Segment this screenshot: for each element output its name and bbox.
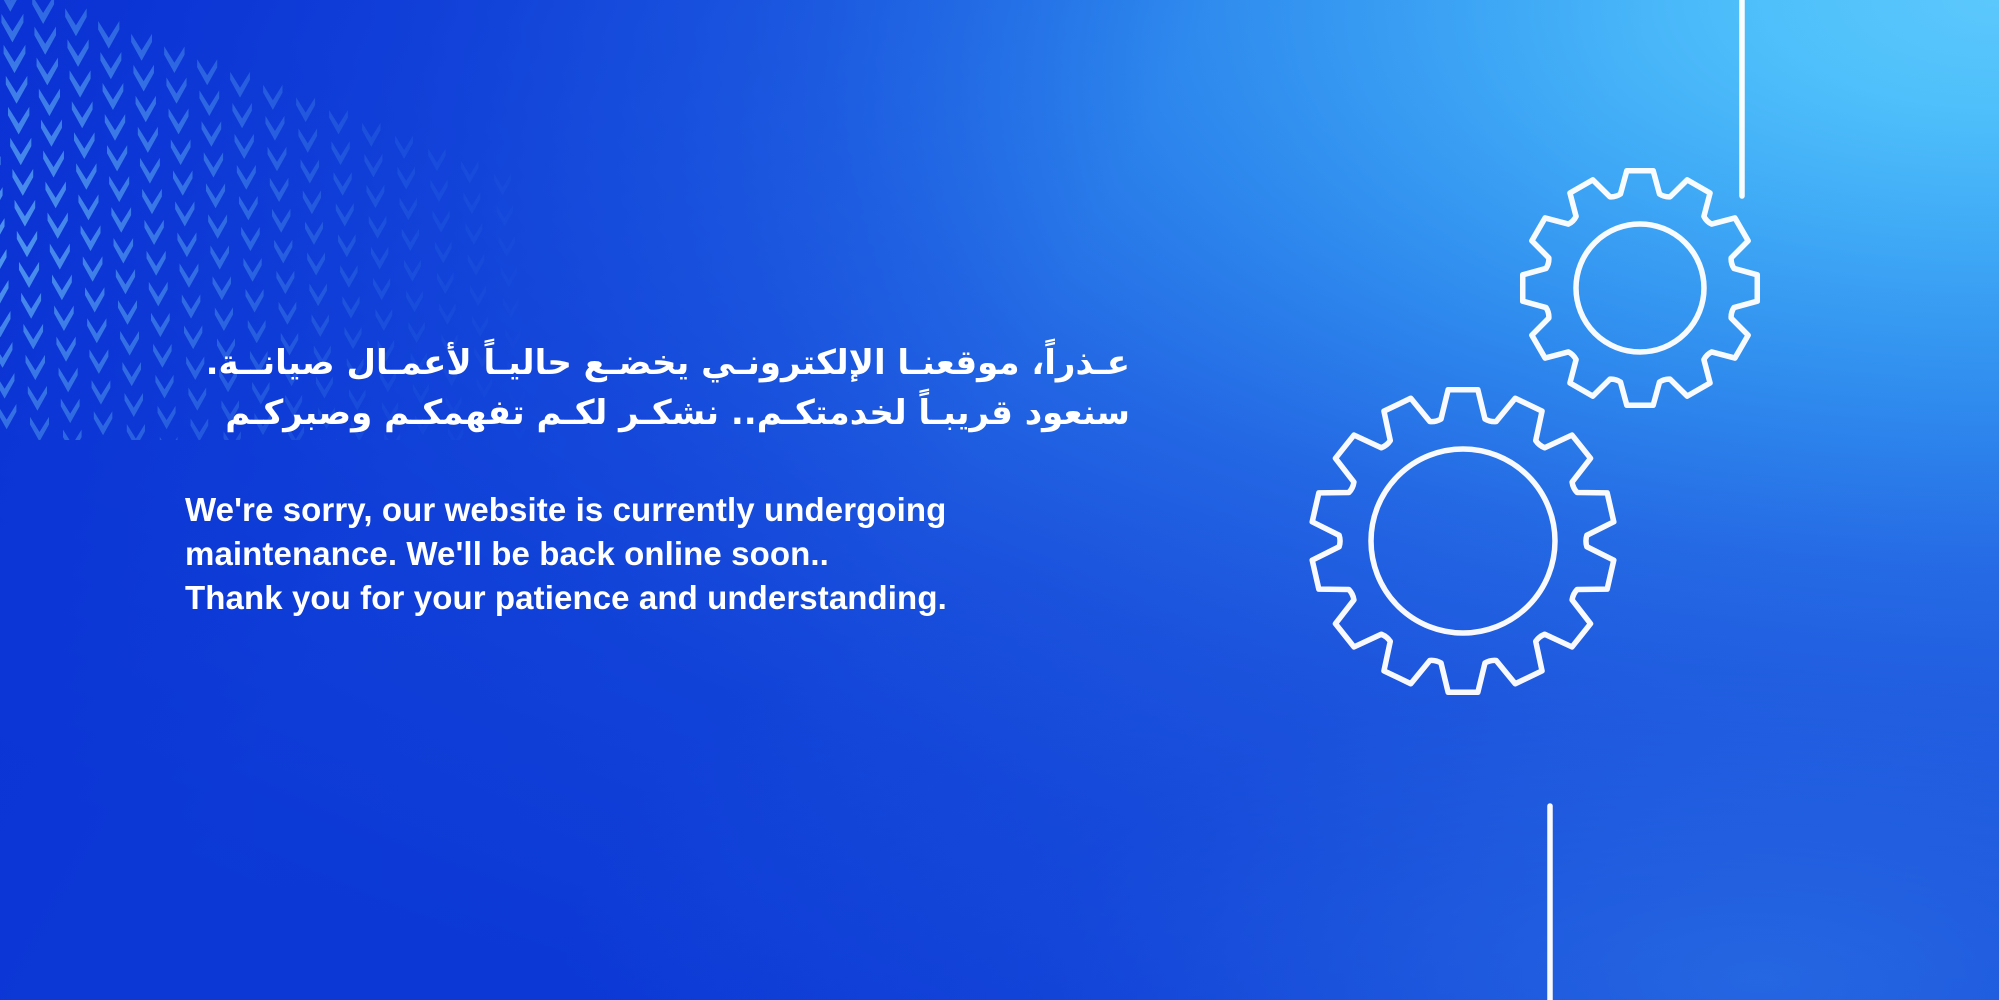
message-english-line-2: maintenance. We'll be back online soon.. [185,532,1145,576]
message-arabic-line-1: عـذراً، موقعنـا الإلكترونـي يخضـع حاليـا… [185,338,1130,388]
message-english: We're sorry, our website is currently un… [185,488,1145,621]
maintenance-message: عـذراً، موقعنـا الإلكترونـي يخضـع حاليـا… [185,338,1145,620]
message-english-line-1: We're sorry, our website is currently un… [185,488,1145,532]
maintenance-page: عـذراً، موقعنـا الإلكترونـي يخضـع حاليـا… [0,0,1999,1000]
message-english-line-3: Thank you for your patience and understa… [185,576,1145,620]
message-arabic-line-2: سنعود قريبـاً لخدمتكـم.. نشكـر لكـم تفهم… [185,388,1130,438]
message-arabic: عـذراً، موقعنـا الإلكترونـي يخضـع حاليـا… [185,338,1130,439]
